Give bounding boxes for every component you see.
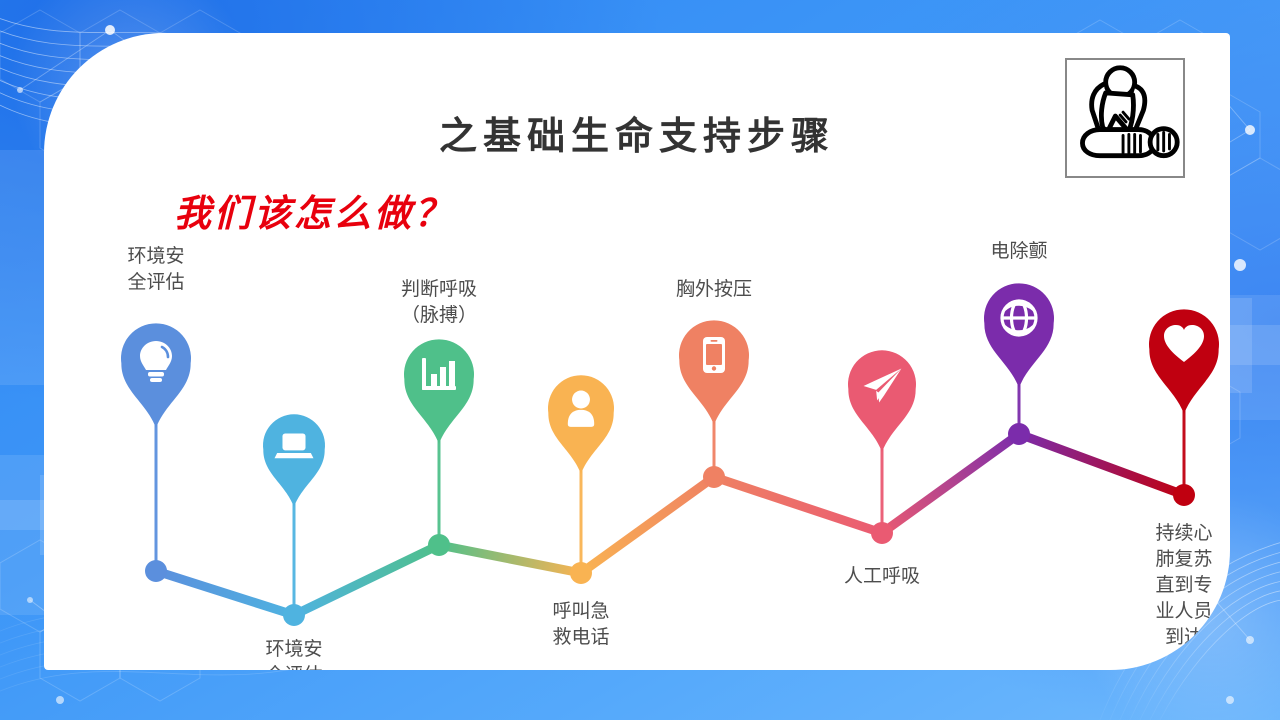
pin-step-3 <box>404 339 474 444</box>
pin-step-6 <box>848 350 916 452</box>
node-step-6 <box>871 522 893 544</box>
chart-svg <box>44 33 1230 670</box>
label-step-3: 判断呼吸 （脉搏） <box>364 276 514 328</box>
node-step-4 <box>570 562 592 584</box>
node-step-8 <box>1173 484 1195 506</box>
node-step-1 <box>145 560 167 582</box>
bls-step-chart: 环境安 全评估环境安 全评估判断呼吸 （脉搏）呼叫急 救电话胸外按压人工呼吸电除… <box>44 33 1230 670</box>
label-step-8: 持续心 肺复苏 直到专 业人员 到达 <box>1124 520 1230 650</box>
label-step-6: 人工呼吸 <box>807 563 957 589</box>
content-card: 之基础生命支持步骤 我们该怎么做？ <box>44 33 1230 670</box>
label-step-1: 环境安 全评估 <box>96 243 216 295</box>
label-step-4: 呼叫急 救电话 <box>521 598 641 650</box>
node-step-7 <box>1008 423 1030 445</box>
node-step-2 <box>283 604 305 626</box>
label-step-5: 胸外按压 <box>639 276 789 302</box>
pin-step-2 <box>263 414 325 507</box>
mobile-phone-icon <box>703 337 725 373</box>
slide-canvas: 之基础生命支持步骤 我们该怎么做？ <box>0 0 1280 720</box>
chart-pin-stems <box>156 382 1184 615</box>
node-step-5 <box>703 466 725 488</box>
node-step-3 <box>428 534 450 556</box>
chart-pin-markers <box>121 283 1219 507</box>
label-step-7: 电除颤 <box>949 238 1089 264</box>
label-step-2: 环境安 全评估 <box>234 636 354 670</box>
